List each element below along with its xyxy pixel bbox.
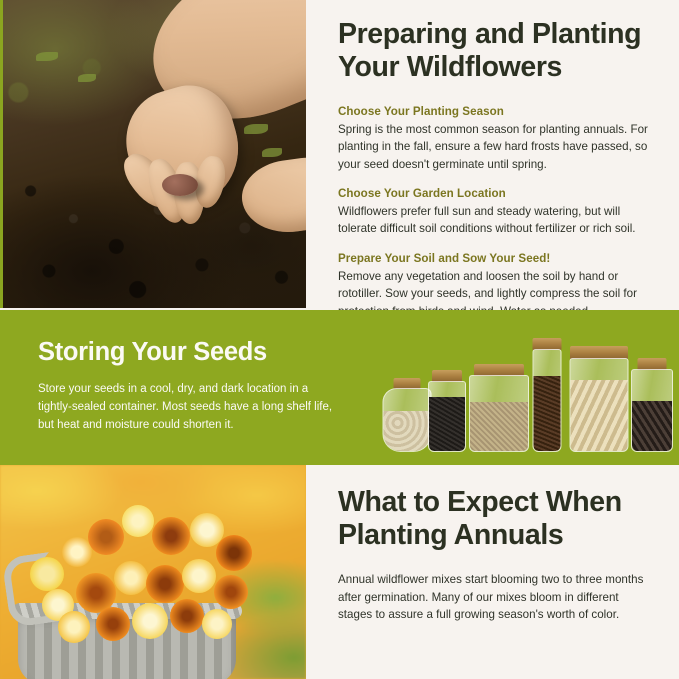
cork-topped-seed-jars-photo (382, 332, 652, 450)
storing-seeds-title: Storing Your Seeds (38, 338, 338, 367)
dark-brown-seed-tube (530, 338, 564, 450)
calendula-flower-basket-photo (0, 465, 306, 679)
body-garden-location: Wildflowers prefer full sun and steady w… (338, 203, 656, 238)
flower-bloom (122, 505, 154, 537)
jar-glass (631, 369, 673, 452)
flower-bloom (88, 519, 124, 555)
block-garden-location: Choose Your Garden Location Wildflowers … (338, 186, 656, 238)
jar-contents (571, 380, 628, 451)
hands-planting-seeds-in-soil-photo (0, 0, 306, 308)
flower-bloom (170, 599, 204, 633)
section-preparing-and-planting: Preparing and Planting Your Wildflowers … (0, 0, 679, 310)
flower-bloom (96, 607, 130, 641)
white-bean-seed-jar (382, 378, 432, 450)
jar-glass (533, 349, 562, 452)
photo-left-accent-bar (0, 0, 3, 308)
black-seed-jar (426, 370, 468, 450)
infographic-page: Preparing and Planting Your Wildflowers … (0, 0, 679, 679)
grain-seed-jar (468, 364, 530, 450)
page-title: Preparing and Planting Your Wildflowers (338, 18, 656, 84)
flower-bloom (216, 535, 252, 571)
seeds-in-hand (162, 174, 198, 196)
subheading-planting-season: Choose Your Planting Season (338, 104, 656, 120)
flower-bloom (62, 537, 92, 567)
jar-glass (570, 358, 629, 452)
flower-bloom (182, 559, 216, 593)
jar-contents (470, 402, 528, 452)
flower-bloom (58, 611, 90, 643)
jar-glass (383, 388, 432, 452)
flower-bloom (202, 609, 232, 639)
flower-bloom (132, 603, 168, 639)
what-to-expect-title: What to Expect When Planting Annuals (338, 486, 656, 552)
top-text-column: Preparing and Planting Your Wildflowers … (338, 18, 656, 320)
storing-seeds-body: Store your seeds in a cool, dry, and dar… (38, 381, 338, 434)
section-storing-your-seeds: Storing Your Seeds Store your seeds in a… (0, 310, 679, 465)
subheading-garden-location: Choose Your Garden Location (338, 186, 656, 202)
flower-bloom (146, 565, 184, 603)
bottom-text-column: What to Expect When Planting Annuals Ann… (338, 486, 656, 624)
body-planting-season: Spring is the most common season for pla… (338, 121, 656, 174)
sprout-leaf (244, 124, 268, 134)
jar-contents (429, 397, 465, 451)
jar-glass (469, 375, 529, 452)
flower-bloom (114, 561, 148, 595)
pumpkin-seed-jar (568, 346, 630, 450)
green-text-column: Storing Your Seeds Store your seeds in a… (38, 338, 338, 435)
flower-bloom (152, 517, 190, 555)
jar-contents (534, 376, 561, 451)
sprout-leaf (78, 74, 96, 82)
section-what-to-expect: What to Expect When Planting Annuals Ann… (0, 465, 679, 679)
jar-glass (428, 381, 466, 452)
jar-contents (384, 411, 431, 451)
flower-bloom (30, 557, 64, 591)
what-to-expect-body: Annual wildflower mixes start blooming t… (338, 571, 656, 624)
block-planting-season: Choose Your Planting Season Spring is th… (338, 104, 656, 173)
sprout-leaf (36, 52, 58, 61)
flower-bloom (214, 575, 248, 609)
sprout-leaf (262, 148, 282, 157)
subheading-prepare-soil: Prepare Your Soil and Sow Your Seed! (338, 251, 656, 267)
sunflower-seed-jar (630, 358, 674, 450)
jar-contents (632, 401, 672, 451)
